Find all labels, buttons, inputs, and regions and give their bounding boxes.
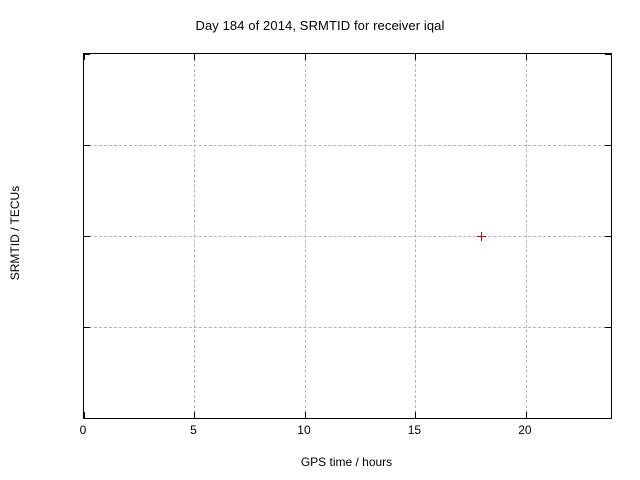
y-axis-tick-mark — [84, 418, 90, 419]
y-axis-tick-mark — [605, 236, 611, 237]
x-axis-tick-label: 15 — [384, 423, 444, 437]
y-axis-tick-mark — [605, 54, 611, 55]
plot-area — [83, 53, 612, 419]
y-axis-tick-mark — [84, 145, 90, 146]
x-axis-tick-mark — [526, 54, 527, 60]
chart-title: Day 184 of 2014, SRMTID for receiver iqa… — [0, 18, 640, 33]
gridline-horizontal — [84, 145, 611, 146]
x-axis-tick-mark — [194, 54, 195, 60]
chart-canvas: Day 184 of 2014, SRMTID for receiver iqa… — [0, 0, 640, 480]
gridline-horizontal — [84, 327, 611, 328]
x-axis-tick-mark — [194, 412, 195, 418]
x-axis-tick-mark — [84, 412, 85, 418]
x-axis-tick-mark — [526, 412, 527, 418]
x-axis-tick-mark — [305, 54, 306, 60]
y-axis-title: SRMTID / TECUs — [8, 113, 22, 353]
gridline-vertical — [526, 54, 527, 418]
gridline-vertical — [194, 54, 195, 418]
x-axis-title: GPS time / hours — [83, 455, 610, 469]
y-axis-tick-mark — [605, 145, 611, 146]
gridline-vertical — [415, 54, 416, 418]
y-axis-tick-mark — [605, 418, 611, 419]
y-axis-tick-mark — [605, 327, 611, 328]
x-axis-tick-label: 10 — [274, 423, 334, 437]
x-axis-tick-mark — [415, 412, 416, 418]
gridline-horizontal — [84, 236, 611, 237]
y-axis-tick-mark — [84, 236, 90, 237]
x-axis-tick-label: 0 — [53, 423, 113, 437]
x-axis-tick-label: 5 — [163, 423, 223, 437]
x-axis-tick-mark — [415, 54, 416, 60]
x-axis-tick-labels: 05101520 — [83, 423, 610, 443]
x-axis-tick-mark — [84, 54, 85, 60]
x-axis-tick-mark — [305, 412, 306, 418]
gridline-vertical — [305, 54, 306, 418]
x-axis-tick-label: 20 — [495, 423, 555, 437]
y-axis-tick-mark — [84, 327, 90, 328]
